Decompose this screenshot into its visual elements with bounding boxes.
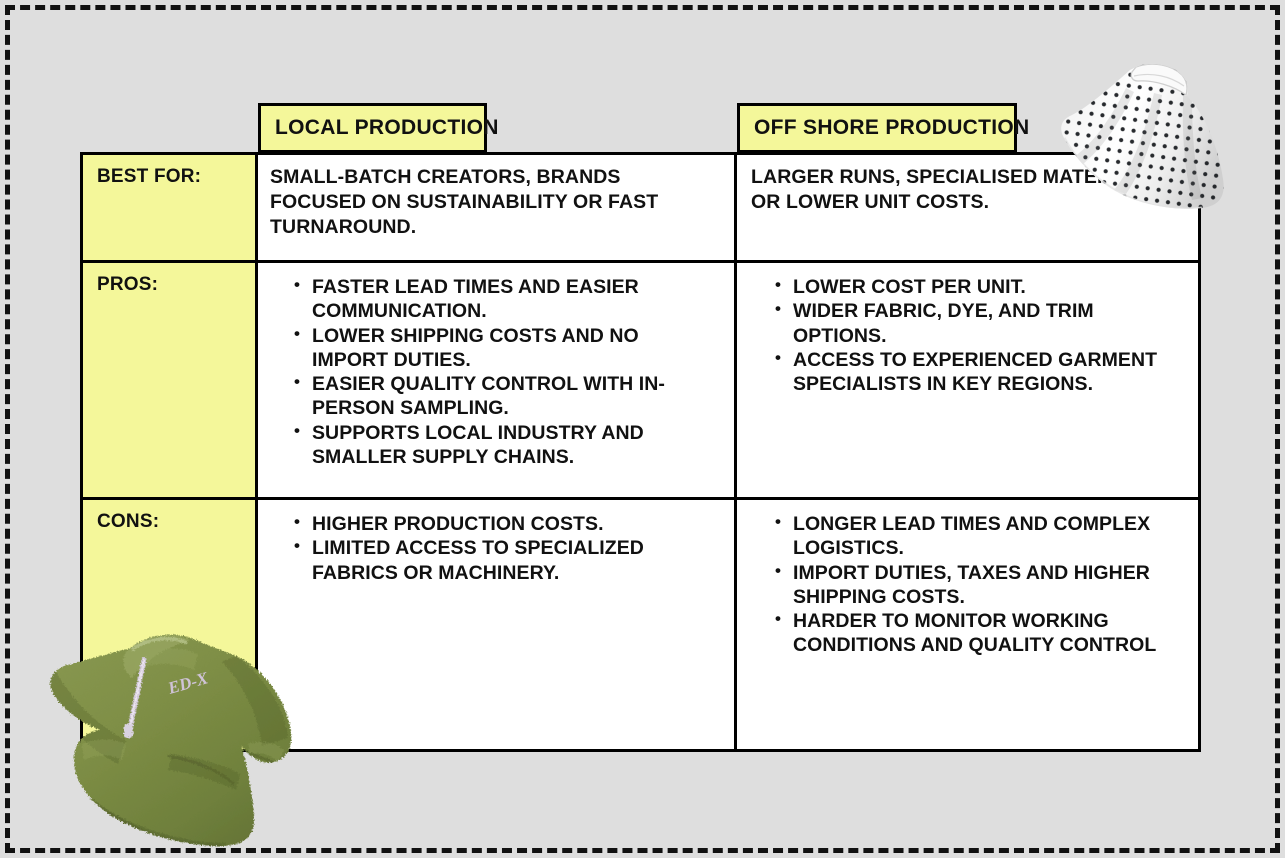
table-row-pros: PROS: FASTER LEAD TIMES AND EASIER COMMU… [83, 263, 1198, 500]
column-header-local-label: LOCAL PRODUCTION [275, 116, 499, 140]
list-item: ACCESS TO EXPERIENCED GARMENT SPECIALIST… [777, 348, 1184, 397]
row-label-text: PROS: [97, 274, 158, 295]
list-item: LIMITED ACCESS TO SPECIALIZED FABRICS OR… [296, 536, 720, 585]
pros-local-list: FASTER LEAD TIMES AND EASIER COMMUNICATI… [270, 275, 720, 469]
list-item: LOWER COST PER UNIT. [777, 275, 1184, 299]
list-item: WIDER FABRIC, DYE, AND TRIM OPTIONS. [777, 299, 1184, 348]
column-header-offshore-label: OFF SHORE PRODUCTION [754, 116, 1030, 140]
column-header-local-production: LOCAL PRODUCTION [258, 103, 487, 153]
list-item: LONGER LEAD TIMES AND COMPLEX LOGISTICS. [777, 512, 1184, 561]
poster-canvas: LOCAL PRODUCTION OFF SHORE PRODUCTION BE… [0, 0, 1285, 858]
cons-local-list: HIGHER PRODUCTION COSTS. LIMITED ACCESS … [270, 512, 720, 585]
list-item: HARDER TO MONITOR WORKING CONDITIONS AND… [777, 609, 1184, 658]
row-label-best-for: BEST FOR: [83, 155, 258, 260]
list-item: FASTER LEAD TIMES AND EASIER COMMUNICATI… [296, 275, 720, 324]
column-header-offshore-production: OFF SHORE PRODUCTION [737, 103, 1017, 153]
cell-pros-offshore: LOWER COST PER UNIT. WIDER FABRIC, DYE, … [737, 263, 1198, 497]
cell-pros-local: FASTER LEAD TIMES AND EASIER COMMUNICATI… [258, 263, 737, 497]
list-item: HIGHER PRODUCTION COSTS. [296, 512, 720, 536]
row-label-text: BEST FOR: [97, 166, 201, 187]
row-label-text: CONS: [97, 511, 159, 532]
cell-cons-offshore: LONGER LEAD TIMES AND COMPLEX LOGISTICS.… [737, 500, 1198, 749]
list-item: IMPORT DUTIES, TAXES AND HIGHER SHIPPING… [777, 561, 1184, 610]
list-item: LOWER SHIPPING COSTS AND NO IMPORT DUTIE… [296, 324, 720, 373]
pros-offshore-list: LOWER COST PER UNIT. WIDER FABRIC, DYE, … [751, 275, 1184, 396]
list-item: EASIER QUALITY CONTROL WITH IN-PERSON SA… [296, 372, 720, 421]
cons-offshore-list: LONGER LEAD TIMES AND COMPLEX LOGISTICS.… [751, 512, 1184, 658]
cell-cons-local: HIGHER PRODUCTION COSTS. LIMITED ACCESS … [258, 500, 737, 749]
cell-best-for-local: SMALL-BATCH CREATORS, BRANDS FOCUSED ON … [258, 155, 737, 260]
row-label-pros: PROS: [83, 263, 258, 497]
cell-best-for-local-text: SMALL-BATCH CREATORS, BRANDS FOCUSED ON … [270, 165, 720, 239]
polka-dot-skirt-photo [1042, 48, 1242, 216]
olive-fleece-jacket-photo: ED-X [22, 604, 312, 854]
list-item: SUPPORTS LOCAL INDUSTRY AND SMALLER SUPP… [296, 421, 720, 470]
table-row-best-for: BEST FOR: SMALL-BATCH CREATORS, BRANDS F… [83, 155, 1198, 263]
